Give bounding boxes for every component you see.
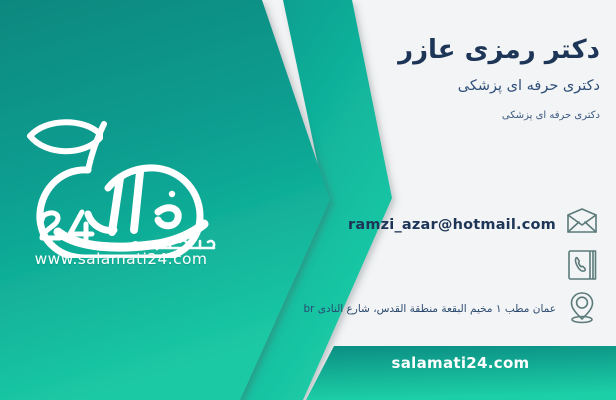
- business-card: www.salamati24.com دکتر رمزی عازر دکتری …: [0, 0, 616, 400]
- salamati24-logo: www.salamati24.com: [8, 108, 234, 270]
- contact-address-value: عمان مطب ۱ مخیم البقعة منطقة القدس، شارع…: [303, 303, 556, 315]
- contact-row-phone[interactable]: [242, 246, 602, 284]
- contact-list: ramzi_azar@hotmail.com: [242, 204, 602, 330]
- contact-row-address[interactable]: عمان مطب ۱ مخیم البقعة منطقة القدس، شارع…: [242, 288, 602, 326]
- leaf-outline-icon: [30, 122, 100, 151]
- contact-row-email[interactable]: ramzi_azar@hotmail.com: [242, 204, 602, 242]
- doctor-name: دکتر رمزی عازر: [248, 34, 600, 67]
- phone-book-icon: [562, 246, 602, 284]
- doctor-specialty-secondary: دکتری حرفه ای پزشکی: [248, 109, 600, 122]
- logo-website-url: www.salamati24.com: [8, 250, 234, 268]
- doctor-info-block: دکتر رمزی عازر دکتری حرفه ای پزشکی دکتری…: [248, 34, 600, 122]
- contact-email-value[interactable]: ramzi_azar@hotmail.com: [348, 217, 556, 233]
- envelope-icon: [562, 204, 602, 242]
- doctor-specialty-primary: دکتری حرفه ای پزشکی: [248, 77, 600, 96]
- apple-logo-mark: [8, 108, 234, 258]
- location-pin-icon: [562, 288, 602, 326]
- footer-website-url[interactable]: salamati24.com: [305, 354, 616, 372]
